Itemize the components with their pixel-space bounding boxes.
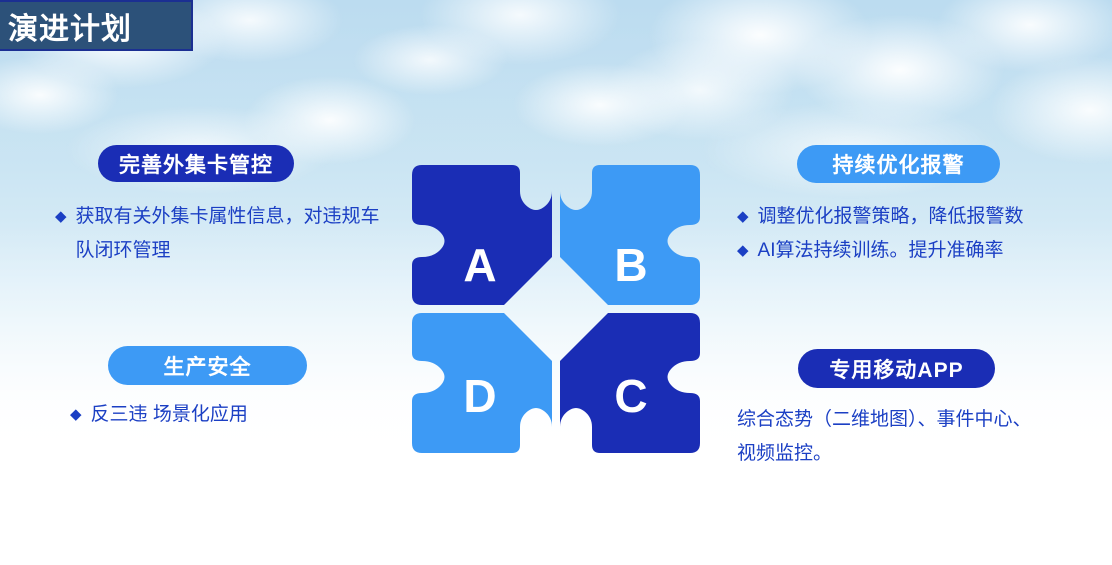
bullet-item: ◆ 获取有关外集卡属性信息，对违规车队闭环管理 — [55, 200, 385, 268]
bullet-text: 调整优化报警策略，降低报警数 — [758, 200, 1067, 234]
pill-label-a[interactable]: 完善外集卡管控 — [98, 145, 294, 182]
bullet-text: 反三违 场景化应用 — [91, 398, 390, 432]
puzzle-letter-d: D — [463, 370, 496, 422]
puzzle-letter-c: C — [614, 370, 647, 422]
puzzle-letter-a: A — [463, 239, 496, 291]
description-text-c: 综合态势（二维地图）、事件中心、 视频监控。 — [737, 403, 1067, 471]
diamond-bullet-icon: ◆ — [737, 200, 749, 234]
pill-label-c-text: 专用移动APP — [829, 354, 963, 384]
diamond-bullet-icon: ◆ — [55, 200, 67, 234]
bullet-item: ◆ 调整优化报警策略，降低报警数 — [737, 200, 1067, 234]
diamond-bullet-icon: ◆ — [70, 398, 82, 432]
pill-label-d[interactable]: 生产安全 — [108, 346, 307, 385]
bullet-text: AI算法持续训练。提升准确率 — [758, 234, 1067, 268]
page-title: 演进计划 — [0, 4, 132, 48]
pill-label-b[interactable]: 持续优化报警 — [797, 145, 1000, 183]
pill-label-d-text: 生产安全 — [164, 351, 252, 381]
puzzle-letter-b: B — [614, 239, 647, 291]
description-block-b: ◆ 调整优化报警策略，降低报警数 ◆ AI算法持续训练。提升准确率 — [737, 200, 1067, 268]
pill-label-b-text: 持续优化报警 — [833, 149, 965, 179]
description-block-d: ◆ 反三违 场景化应用 — [70, 398, 390, 432]
description-block-c: 综合态势（二维地图）、事件中心、 视频监控。 — [737, 403, 1067, 471]
diamond-bullet-icon: ◆ — [737, 234, 749, 268]
pill-label-c[interactable]: 专用移动APP — [798, 349, 995, 388]
title-banner: 演进计划 — [0, 0, 193, 51]
slide-canvas: 演进计划 完善外集卡管控 ◆ 获取有关外集卡属性信息，对违规车队闭环管理 持续优… — [0, 0, 1112, 565]
bullet-text: 获取有关外集卡属性信息，对违规车队闭环管理 — [76, 200, 385, 268]
bullet-item: ◆ AI算法持续训练。提升准确率 — [737, 234, 1067, 268]
description-block-a: ◆ 获取有关外集卡属性信息，对违规车队闭环管理 — [55, 200, 385, 268]
pill-label-a-text: 完善外集卡管控 — [119, 149, 273, 179]
bullet-item: ◆ 反三违 场景化应用 — [70, 398, 390, 432]
puzzle-graphic: A B D C — [408, 161, 704, 457]
